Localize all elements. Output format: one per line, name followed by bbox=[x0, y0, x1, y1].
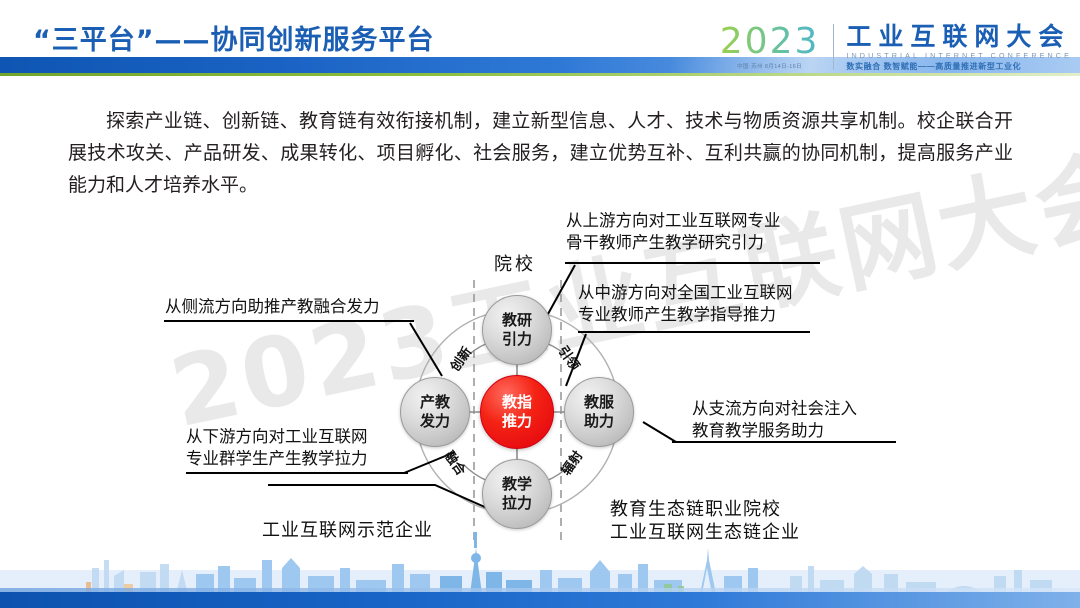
node-right[interactable]: 教服 助力 bbox=[564, 377, 634, 447]
page-title: “三平台”——协同创新服务平台 bbox=[33, 18, 435, 57]
logo-name-cn: 工业互联网大会 bbox=[846, 22, 1072, 51]
skyline-graphic bbox=[0, 530, 1080, 594]
logo-year-block: 2023 中国·苏州 8月14日-16日 bbox=[720, 22, 834, 71]
annotation-top-right-upper: 从上游方向对工业互联网专业 骨干教师产生教学研究引力 bbox=[566, 210, 781, 254]
node-bottom-label: 教学 拉力 bbox=[502, 475, 532, 513]
logo-name-block: 工业互联网大会 INDUSTRIAL INTERNET CONFERENCE 数… bbox=[846, 22, 1072, 72]
node-bottom[interactable]: 教学 拉力 bbox=[482, 459, 552, 529]
annotation-top-right-lower: 从中游方向对全国工业互联网 专业教师产生教学指导推力 bbox=[578, 282, 793, 326]
node-center-label: 教指 推力 bbox=[502, 393, 532, 431]
node-left-label: 产教 发力 bbox=[420, 393, 450, 431]
logo-year-text: 2023 bbox=[720, 22, 820, 62]
slide-root: “三平台”——协同创新服务平台 2023 中国·苏州 8月14日-16日 工业互… bbox=[0, 0, 1080, 608]
annotation-left-lower: 从下游方向对工业互联网 专业群学生产生教学拉力 bbox=[186, 426, 368, 470]
annotation-left-upper: 从侧流方向助推产教融合发力 bbox=[165, 296, 380, 318]
node-top-label: 教研 引力 bbox=[502, 311, 532, 349]
node-left[interactable]: 产教 发力 bbox=[400, 377, 470, 447]
logo-date-text: 中国·苏州 8月14日-16日 bbox=[720, 63, 820, 71]
diagram-canvas: 教研 引力 产教 发力 教服 助力 教学 拉力 教指 推力 创新 引领 融合 辐… bbox=[0, 190, 1080, 570]
node-right-label: 教服 助力 bbox=[584, 393, 614, 431]
logo-slogan: 数实融合 数智赋能——高质量推进新型工业化 bbox=[846, 61, 1072, 72]
node-center[interactable]: 教指 推力 bbox=[480, 375, 554, 449]
body-paragraph: 探索产业链、创新链、教育链有效衔接机制，建立新型信息、人才、技术与物质资源共享机… bbox=[68, 105, 1013, 201]
conference-logo: 2023 中国·苏州 8月14日-16日 工业互联网大会 INDUSTRIAL … bbox=[720, 22, 1072, 84]
logo-name-en: INDUSTRIAL INTERNET CONFERENCE bbox=[846, 51, 1072, 61]
logo-divider bbox=[833, 24, 834, 70]
slide-footer bbox=[0, 530, 1080, 608]
node-top[interactable]: 教研 引力 bbox=[482, 295, 552, 365]
zone-label-top: 院校 bbox=[494, 250, 536, 276]
slide-header: “三平台”——协同创新服务平台 2023 中国·苏州 8月14日-16日 工业互… bbox=[0, 0, 1080, 92]
footer-blue-band bbox=[0, 592, 1080, 608]
annotation-right: 从支流方向对社会注入 教育教学服务助力 bbox=[692, 398, 857, 442]
